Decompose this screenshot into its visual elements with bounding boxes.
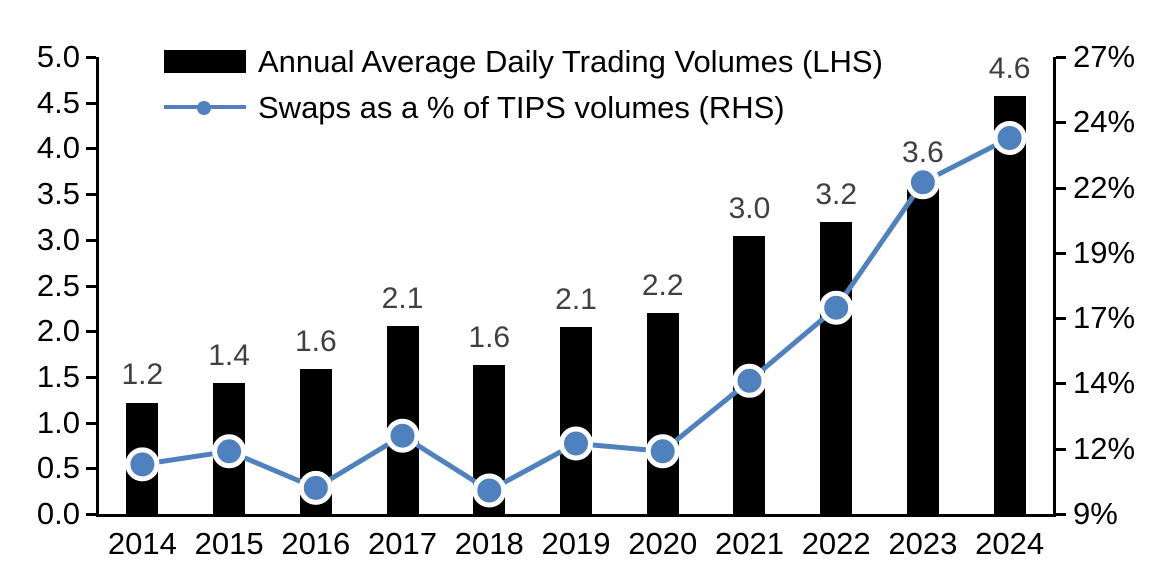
bar-value-label: 1.4 — [189, 341, 269, 371]
left-axis-tick-label: 4.5 — [37, 87, 80, 118]
line-marker — [648, 437, 677, 466]
bar-value-label: 1.2 — [102, 360, 182, 390]
left-axis-tick — [86, 285, 96, 288]
bar-value-label: 3.0 — [709, 194, 789, 224]
left-axis-tick — [86, 467, 96, 470]
line-marker — [388, 421, 417, 450]
left-axis-tick — [86, 330, 96, 333]
line-marker — [995, 124, 1024, 153]
right-axis-tick — [1056, 56, 1066, 59]
bar-value-label: 3.6 — [883, 138, 963, 168]
line-marker — [822, 293, 851, 322]
left-axis-tick-label: 2.0 — [37, 315, 80, 346]
legend-item-bar-series: Annual Average Daily Trading Volumes (LH… — [160, 38, 883, 84]
line-marker — [215, 437, 244, 466]
bar-swatch-icon — [160, 50, 250, 73]
category-label: 2023 — [873, 528, 973, 559]
right-axis-tick-label: 14% — [1073, 367, 1135, 398]
left-axis-tick-label: 1.0 — [37, 407, 80, 438]
chart-legend: Annual Average Daily Trading Volumes (LH… — [160, 38, 883, 130]
left-axis-tick-label: 3.5 — [37, 178, 80, 209]
category-label: 2024 — [960, 528, 1060, 559]
right-axis-tick — [1056, 121, 1066, 124]
left-axis-tick — [86, 376, 96, 379]
line-marker — [475, 476, 504, 505]
category-label: 2018 — [439, 528, 539, 559]
right-axis-tick-label: 17% — [1073, 302, 1135, 333]
left-axis-tick — [86, 56, 96, 59]
line-marker — [301, 473, 330, 502]
legend-label-line-series: Swaps as a % of TIPS volumes (RHS) — [258, 92, 785, 123]
left-axis-tick-label: 4.0 — [37, 132, 80, 163]
left-axis-tick-label: 5.0 — [37, 41, 80, 72]
left-axis-tick — [86, 239, 96, 242]
right-axis-tick-label: 22% — [1073, 172, 1135, 203]
category-label: 2017 — [353, 528, 453, 559]
left-axis-tick-label: 0.5 — [37, 452, 80, 483]
x-axis-line — [96, 514, 1056, 517]
category-label: 2022 — [786, 528, 886, 559]
category-label: 2020 — [613, 528, 713, 559]
left-axis-tick — [86, 513, 96, 516]
line-swatch-icon — [160, 97, 250, 117]
legend-item-line-series: Swaps as a % of TIPS volumes (RHS) — [160, 84, 883, 130]
category-label: 2014 — [92, 528, 192, 559]
legend-label-bar-series: Annual Average Daily Trading Volumes (LH… — [258, 46, 883, 77]
left-axis-tick-label: 3.0 — [37, 224, 80, 255]
chart-container: 5.04.54.03.53.02.52.01.51.00.50.0 27%24%… — [0, 0, 1152, 584]
right-axis-tick — [1056, 382, 1066, 385]
left-axis-tick — [86, 422, 96, 425]
bar-value-label: 2.1 — [536, 285, 616, 315]
right-axis-tick — [1056, 187, 1066, 190]
category-label: 2021 — [699, 528, 799, 559]
right-axis-tick — [1056, 448, 1066, 451]
left-axis-tick-label: 0.0 — [37, 498, 80, 529]
left-axis-tick — [86, 193, 96, 196]
category-label: 2015 — [179, 528, 279, 559]
category-label: 2019 — [526, 528, 626, 559]
left-axis-tick — [86, 147, 96, 150]
right-axis-tick-label: 24% — [1073, 106, 1135, 137]
bar-value-label: 2.2 — [623, 271, 703, 301]
bar-value-label: 3.2 — [796, 180, 876, 210]
right-axis-tick — [1056, 513, 1066, 516]
bar-value-label: 1.6 — [449, 323, 529, 353]
line-marker — [128, 450, 157, 479]
line-marker — [908, 168, 937, 197]
bar-value-label: 1.6 — [276, 327, 356, 357]
right-axis-tick — [1056, 317, 1066, 320]
right-axis-tick-label: 19% — [1073, 237, 1135, 268]
right-axis-tick-label: 9% — [1073, 498, 1118, 529]
right-axis-tick-label: 12% — [1073, 433, 1135, 464]
bar-value-label: 4.6 — [970, 54, 1050, 84]
line-marker — [562, 429, 591, 458]
left-axis-tick-label: 2.5 — [37, 270, 80, 301]
right-axis-tick-label: 27% — [1073, 41, 1135, 72]
left-axis-tick-label: 1.5 — [37, 361, 80, 392]
line-marker — [735, 366, 764, 395]
bar-value-label: 2.1 — [363, 284, 443, 314]
category-label: 2016 — [266, 528, 366, 559]
left-axis-tick — [86, 102, 96, 105]
right-axis-tick — [1056, 252, 1066, 255]
